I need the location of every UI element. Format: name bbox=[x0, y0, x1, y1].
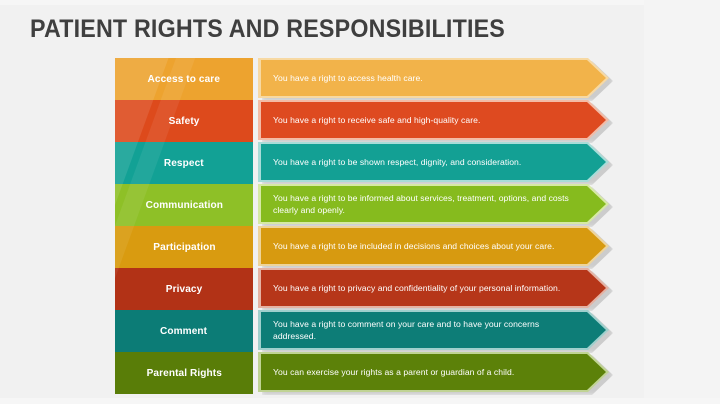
background-bottom-strip bbox=[0, 398, 720, 404]
category-label-block[interactable]: Participation bbox=[115, 226, 253, 268]
category-label: Participation bbox=[153, 241, 215, 253]
list-item[interactable]: CommunicationYou have a right to be info… bbox=[115, 184, 615, 226]
slide-canvas: PATIENT RIGHTS AND RESPONSIBILITIES Acce… bbox=[0, 0, 720, 404]
arrow-fill: You have a right to be informed about se… bbox=[261, 186, 606, 222]
description-text: You have a right to be included in decis… bbox=[261, 240, 588, 252]
list-item[interactable]: CommentYou have a right to comment on yo… bbox=[115, 310, 615, 352]
category-label: Privacy bbox=[166, 283, 203, 295]
description-text: You have a right to be informed about se… bbox=[261, 192, 606, 217]
arrow-fill: You have a right to access health care. bbox=[261, 60, 606, 96]
rights-list: Access to careYou have a right to access… bbox=[115, 58, 615, 394]
description-text: You have a right to privacy and confiden… bbox=[261, 282, 594, 294]
description-arrow[interactable]: You have a right to be included in decis… bbox=[258, 226, 615, 268]
category-label-block[interactable]: Privacy bbox=[115, 268, 253, 310]
arrow-outline: You have a right to be shown respect, di… bbox=[258, 142, 609, 182]
category-label: Access to care bbox=[148, 73, 221, 85]
description-text: You have a right to receive safe and hig… bbox=[261, 114, 514, 126]
category-label: Safety bbox=[169, 115, 200, 127]
arrow-outline: You have a right to access health care. bbox=[258, 58, 609, 98]
arrow-fill: You have a right to be included in decis… bbox=[261, 228, 606, 264]
arrow-fill: You have a right to be shown respect, di… bbox=[261, 144, 606, 180]
arrow-fill: You have a right to receive safe and hig… bbox=[261, 102, 606, 138]
arrow-fill: You can exercise your rights as a parent… bbox=[261, 354, 606, 390]
category-label: Comment bbox=[160, 325, 207, 337]
list-item[interactable]: Access to careYou have a right to access… bbox=[115, 58, 615, 100]
list-item[interactable]: ParticipationYou have a right to be incl… bbox=[115, 226, 615, 268]
arrow-outline: You have a right to comment on your care… bbox=[258, 310, 609, 350]
arrow-outline: You have a right to privacy and confiden… bbox=[258, 268, 609, 308]
description-text: You have a right to be shown respect, di… bbox=[261, 156, 555, 168]
category-label-block[interactable]: Parental Rights bbox=[115, 352, 253, 394]
background-top-strip bbox=[0, 0, 720, 5]
category-label: Parental Rights bbox=[146, 367, 221, 379]
background-right-panel bbox=[644, 0, 720, 404]
description-arrow[interactable]: You have a right to be shown respect, di… bbox=[258, 142, 615, 184]
description-arrow[interactable]: You have a right to privacy and confiden… bbox=[258, 268, 615, 310]
description-arrow[interactable]: You can exercise your rights as a parent… bbox=[258, 352, 615, 394]
list-item[interactable]: RespectYou have a right to be shown resp… bbox=[115, 142, 615, 184]
description-text: You can exercise your rights as a parent… bbox=[261, 366, 548, 378]
category-label-block[interactable]: Access to care bbox=[115, 58, 253, 100]
page-title: PATIENT RIGHTS AND RESPONSIBILITIES bbox=[30, 15, 505, 44]
list-item[interactable]: Parental RightsYou can exercise your rig… bbox=[115, 352, 615, 394]
description-text: You have a right to comment on your care… bbox=[261, 318, 606, 343]
arrow-outline: You can exercise your rights as a parent… bbox=[258, 352, 609, 392]
description-arrow[interactable]: You have a right to be informed about se… bbox=[258, 184, 615, 226]
category-label: Respect bbox=[164, 157, 204, 169]
description-arrow[interactable]: You have a right to comment on your care… bbox=[258, 310, 615, 352]
category-label-block[interactable]: Safety bbox=[115, 100, 253, 142]
category-label: Communication bbox=[145, 199, 222, 211]
arrow-outline: You have a right to be informed about se… bbox=[258, 184, 609, 224]
description-arrow[interactable]: You have a right to access health care. bbox=[258, 58, 615, 100]
list-item[interactable]: SafetyYou have a right to receive safe a… bbox=[115, 100, 615, 142]
description-text: You have a right to access health care. bbox=[261, 72, 457, 84]
arrow-outline: You have a right to receive safe and hig… bbox=[258, 100, 609, 140]
category-label-block[interactable]: Comment bbox=[115, 310, 253, 352]
category-label-block[interactable]: Respect bbox=[115, 142, 253, 184]
category-label-block[interactable]: Communication bbox=[115, 184, 253, 226]
list-item[interactable]: PrivacyYou have a right to privacy and c… bbox=[115, 268, 615, 310]
arrow-fill: You have a right to comment on your care… bbox=[261, 312, 606, 348]
arrow-outline: You have a right to be included in decis… bbox=[258, 226, 609, 266]
description-arrow[interactable]: You have a right to receive safe and hig… bbox=[258, 100, 615, 142]
arrow-fill: You have a right to privacy and confiden… bbox=[261, 270, 606, 306]
